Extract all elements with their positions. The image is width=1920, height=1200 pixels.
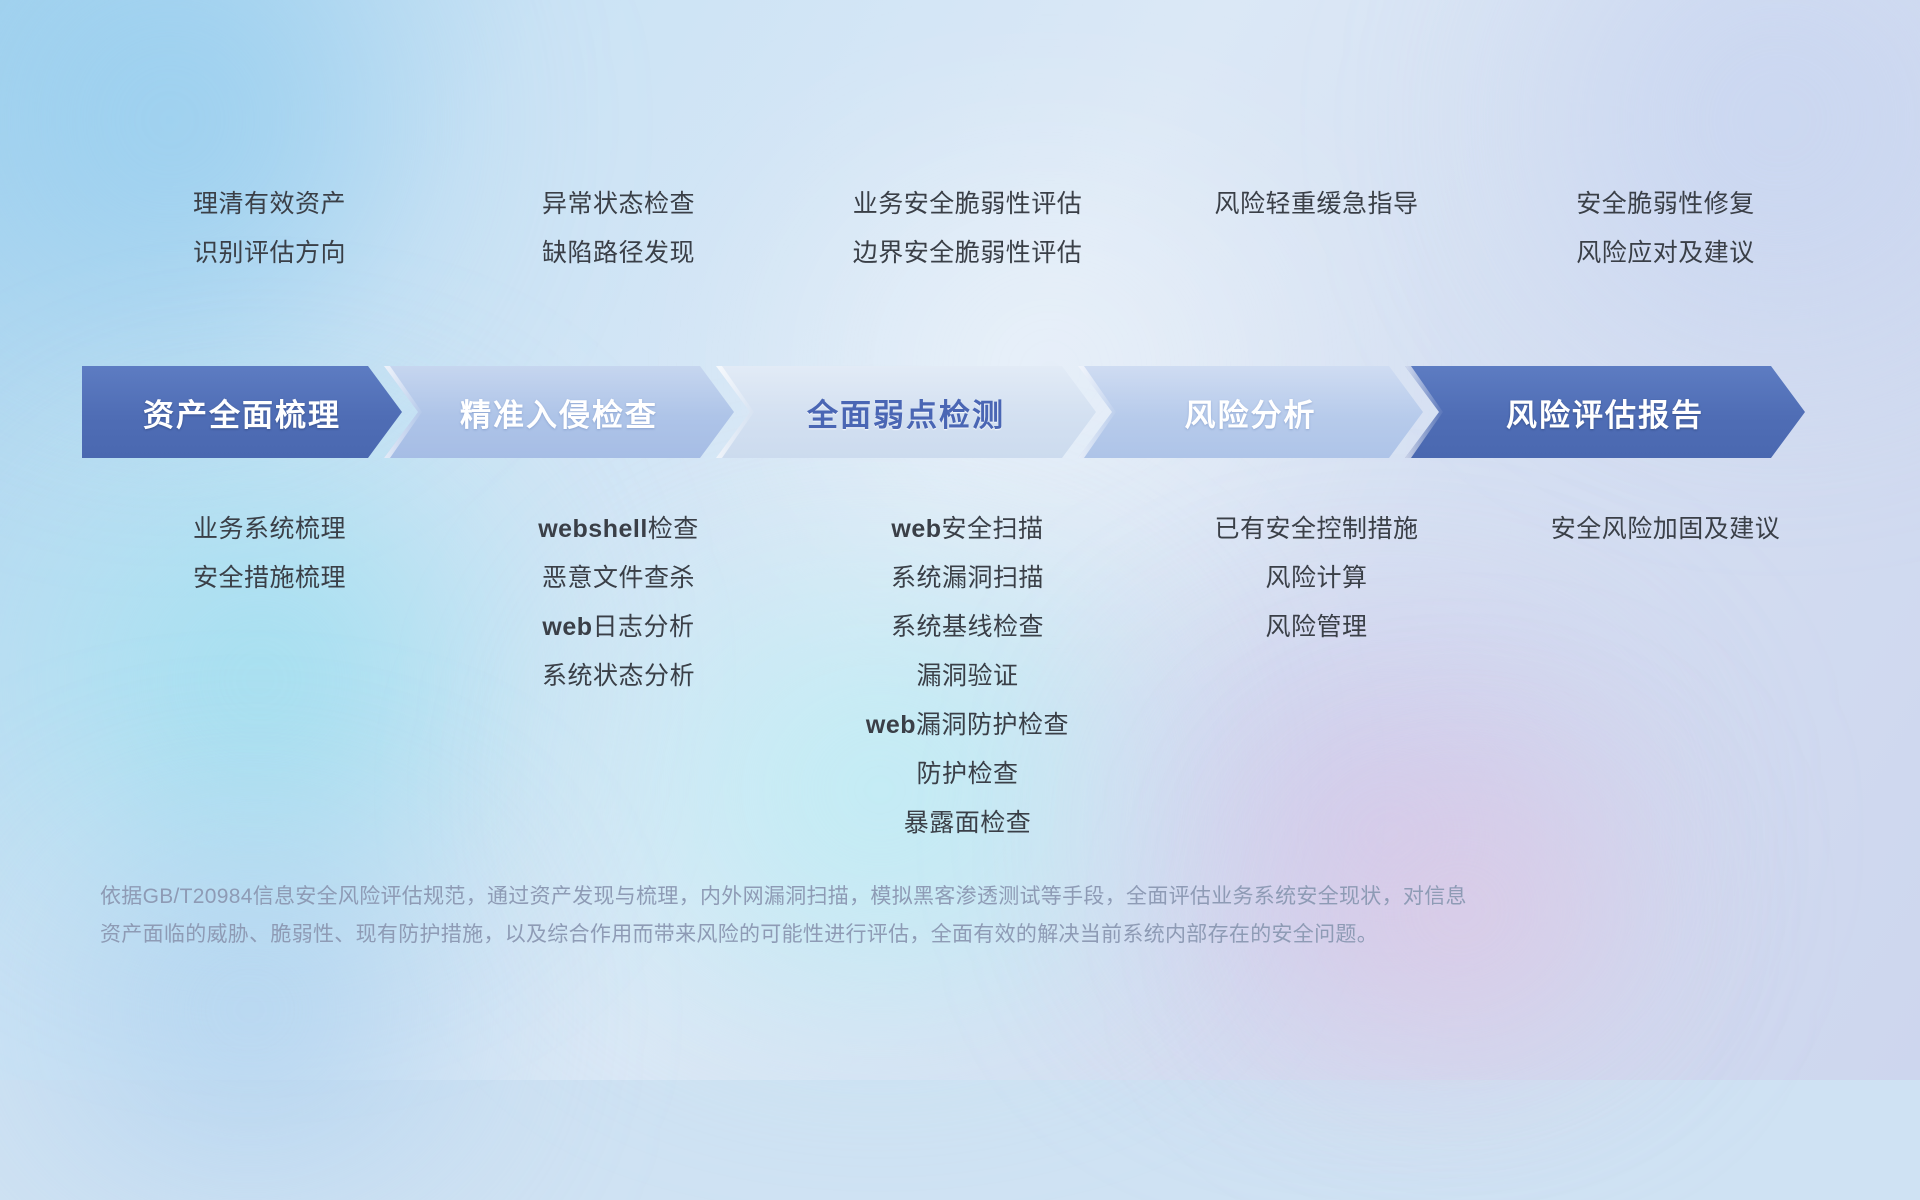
process-step-title: 风险分析	[1185, 390, 1317, 435]
outcomes-column-5: 安全脆弱性修复 风险应对及建议	[1491, 180, 1840, 278]
task-text: 防护检查	[916, 760, 1018, 788]
task-item: 恶意文件查杀	[542, 554, 695, 603]
task-item: 系统漏洞扫描	[891, 554, 1044, 603]
task-text: 漏洞验证	[916, 662, 1018, 690]
task-text: 风险计算	[1265, 564, 1367, 592]
task-text: 安全措施梳理	[193, 564, 346, 592]
outcomes-column-4: 风险轻重缓急指导	[1142, 180, 1491, 229]
task-prefix: web	[866, 711, 916, 739]
process-arrow-band: 资产全面梳理 精准入侵检查 全面弱点检测 风险分析 风险评估报告	[82, 366, 1840, 458]
tasks-column-5: 安全风险加固及建议	[1491, 505, 1840, 554]
task-item: 防护检查	[916, 750, 1018, 799]
process-step-title: 精准入侵检查	[460, 390, 658, 435]
task-item: 安全措施梳理	[193, 554, 346, 603]
process-step-title: 全面弱点检测	[807, 390, 1005, 435]
process-step-risk-analysis[interactable]: 风险分析	[1078, 366, 1423, 458]
task-item: 漏洞验证	[916, 652, 1018, 701]
task-item: web漏洞防护检查	[866, 701, 1069, 750]
task-prefix: web	[891, 515, 941, 543]
outcome-text: 业务安全脆弱性评估	[853, 180, 1083, 229]
task-item: 系统状态分析	[542, 652, 695, 701]
task-item: 已有安全控制措施	[1214, 505, 1418, 554]
task-item: 业务系统梳理	[193, 505, 346, 554]
process-step-intrusion-check[interactable]: 精准入侵检查	[384, 366, 734, 458]
task-text: 日志分析	[593, 613, 695, 641]
tasks-column-1: 业务系统梳理 安全措施梳理	[95, 505, 444, 603]
tasks-column-4: 已有安全控制措施 风险计算 风险管理	[1142, 505, 1491, 652]
outcome-text: 安全脆弱性修复	[1576, 180, 1755, 229]
outcome-text: 识别评估方向	[193, 229, 346, 278]
outcomes-column-3: 业务安全脆弱性评估 边界安全脆弱性评估	[793, 180, 1142, 278]
task-prefix: web	[542, 613, 592, 641]
task-item: web安全扫描	[891, 505, 1043, 554]
outcome-text: 缺陷路径发现	[542, 229, 695, 278]
task-text: 系统状态分析	[542, 662, 695, 690]
task-text: 安全风险加固及建议	[1551, 515, 1781, 543]
task-item: 风险管理	[1265, 603, 1367, 652]
task-prefix: webshell	[538, 515, 648, 543]
task-text: 业务系统梳理	[193, 515, 346, 543]
task-item: web日志分析	[542, 603, 694, 652]
task-item: 安全风险加固及建议	[1551, 505, 1781, 554]
task-text: 漏洞防护检查	[916, 711, 1069, 739]
footer-description: 依据GB/T20984信息安全风险评估规范，通过资产发现与梳理，内外网漏洞扫描，…	[100, 878, 1620, 954]
process-step-weakness-detection[interactable]: 全面弱点检测	[716, 366, 1096, 458]
outcome-text: 边界安全脆弱性评估	[853, 229, 1083, 278]
task-text: 系统基线检查	[891, 613, 1044, 641]
task-text: 恶意文件查杀	[542, 564, 695, 592]
outcomes-column-2: 异常状态检查 缺陷路径发现	[444, 180, 793, 278]
outcome-text: 风险轻重缓急指导	[1214, 180, 1418, 229]
outcomes-row: 理清有效资产 识别评估方向 异常状态检查 缺陷路径发现 业务安全脆弱性评估 边界…	[95, 180, 1840, 285]
process-step-title: 风险评估报告	[1506, 390, 1704, 435]
task-text: 系统漏洞扫描	[891, 564, 1044, 592]
process-step-assessment-report[interactable]: 风险评估报告	[1405, 366, 1805, 458]
footer-line-2: 资产面临的威胁、脆弱性、现有防护措施，以及综合作用而带来风险的可能性进行评估，全…	[100, 916, 1620, 954]
task-text: 安全扫描	[942, 515, 1044, 543]
task-text: 暴露面检查	[904, 809, 1032, 837]
tasks-row: 业务系统梳理 安全措施梳理 webshell检查 恶意文件查杀 web日志分析 …	[95, 505, 1840, 825]
task-text: 检查	[648, 515, 699, 543]
task-item: 系统基线检查	[891, 603, 1044, 652]
task-item: webshell检查	[538, 505, 699, 554]
task-text: 风险管理	[1265, 613, 1367, 641]
tasks-column-2: webshell检查 恶意文件查杀 web日志分析 系统状态分析	[444, 505, 793, 701]
process-step-title: 资产全面梳理	[143, 390, 341, 435]
process-diagram: 理清有效资产 识别评估方向 异常状态检查 缺陷路径发现 业务安全脆弱性评估 边界…	[0, 0, 1920, 1080]
process-step-asset-inventory[interactable]: 资产全面梳理	[82, 366, 402, 458]
task-item: 风险计算	[1265, 554, 1367, 603]
outcome-text: 风险应对及建议	[1576, 229, 1755, 278]
outcome-text: 理清有效资产	[193, 180, 346, 229]
footer-line-1: 依据GB/T20984信息安全风险评估规范，通过资产发现与梳理，内外网漏洞扫描，…	[100, 878, 1620, 916]
tasks-column-3: web安全扫描 系统漏洞扫描 系统基线检查 漏洞验证 web漏洞防护检查 防护检…	[793, 505, 1142, 848]
outcome-text: 异常状态检查	[542, 180, 695, 229]
outcomes-column-1: 理清有效资产 识别评估方向	[95, 180, 444, 278]
task-item: 暴露面检查	[904, 799, 1032, 848]
task-text: 已有安全控制措施	[1214, 515, 1418, 543]
